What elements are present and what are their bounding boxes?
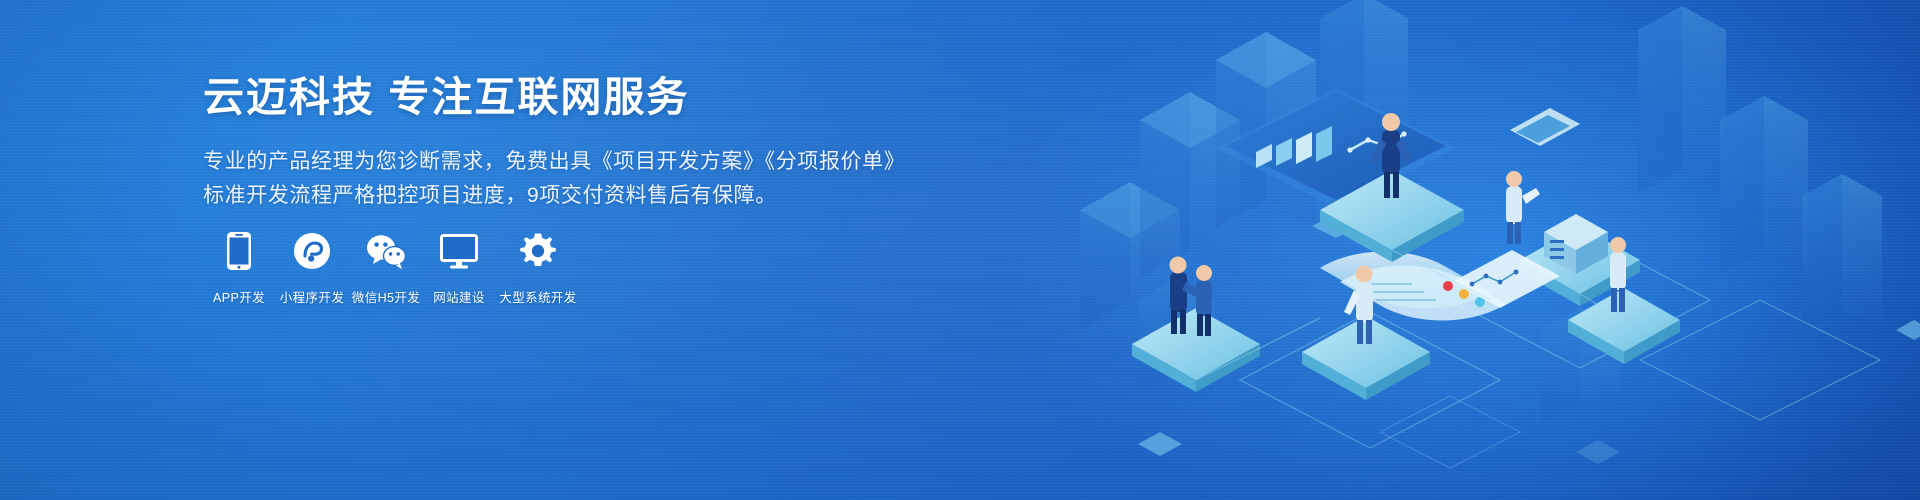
service-label: 小程序开发 [280,287,345,306]
subtitle-line-2: 标准开发流程严格把控项目进度，9项交付资料售后有保障。 [203,179,903,213]
subtitle-line-1: 专业的产品经理为您诊断需求，免费出具《项目开发方案》《分项报价单》 [203,145,903,179]
service-label: 微信H5开发 [352,287,420,306]
gear-icon [518,228,558,274]
service-item-wechat[interactable]: 微信H5开发 [349,228,423,306]
monitor-icon [439,228,479,274]
banner-subtitle: 专业的产品经理为您诊断需求，免费出具《项目开发方案》《分项报价单》 标准开发流程… [203,145,903,213]
banner-copy: 云迈科技 专注互联网服务 专业的产品经理为您诊断需求，免费出具《项目开发方案》《… [203,72,903,213]
service-item-website[interactable]: 网站建设 [423,228,495,306]
service-label: APP开发 [213,287,265,306]
service-item-app[interactable]: APP开发 [203,228,275,306]
mini-program-icon [293,228,331,274]
service-label: 大型系统开发 [499,287,576,306]
service-label: 网站建设 [433,287,485,306]
person-server [1506,171,1540,244]
tablet-card [1510,108,1580,146]
service-list: APP开发 小程序开发 [203,228,581,306]
hero-banner: 云迈科技 专注互联网服务 专业的产品经理为您诊断需求，免费出具《项目开发方案》《… [0,0,1920,500]
smartphone-icon [226,228,252,274]
service-item-miniprogram[interactable]: 小程序开发 [275,228,349,306]
isometric-tech-illustration [1020,0,1920,500]
wechat-icon [365,228,407,274]
service-item-system[interactable]: 大型系统开发 [495,228,581,306]
page-title: 云迈科技 专注互联网服务 [203,72,903,123]
